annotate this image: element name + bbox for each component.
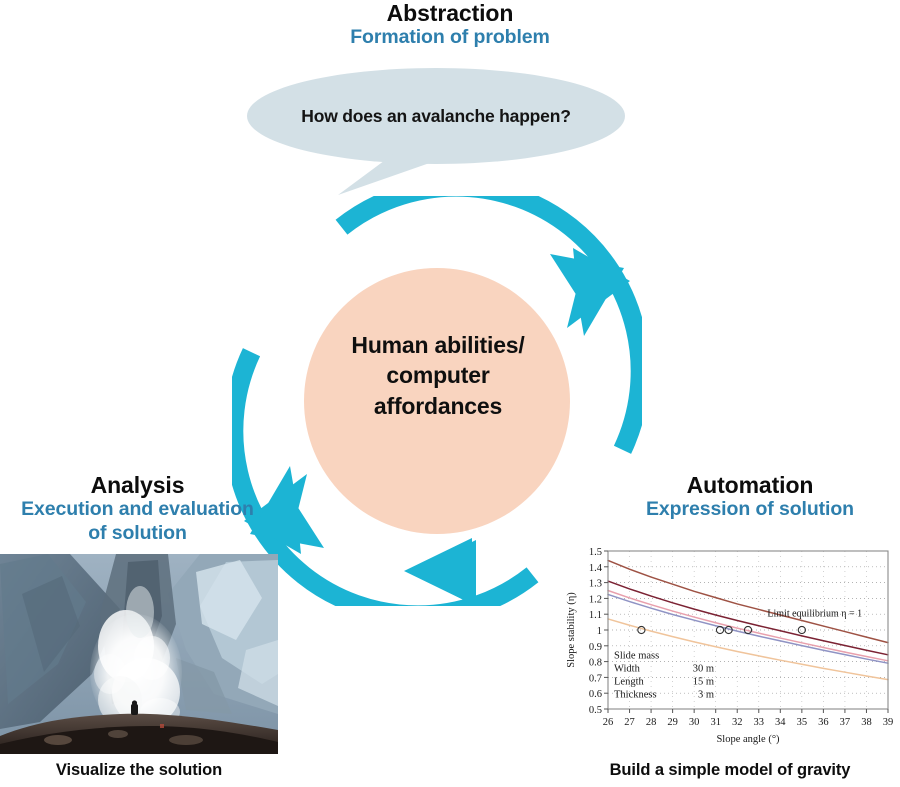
cycle-center-label: Human abilities/ computer affordances	[300, 330, 576, 421]
abstraction-title: Abstraction	[240, 0, 660, 26]
x-tick-label: 29	[667, 717, 678, 728]
x-tick-label: 35	[797, 717, 808, 728]
inset-table-row-label: Thickness	[614, 689, 657, 700]
x-tick-label: 34	[775, 717, 786, 728]
analysis-heading: Analysis Execution and evaluation of sol…	[0, 472, 275, 545]
y-tick-label: 1.5	[589, 547, 602, 558]
x-tick-label: 26	[603, 717, 614, 728]
x-tick-label: 38	[861, 717, 872, 728]
y-tick-label: 0.8	[589, 658, 602, 669]
cycle-center-line-2: computer	[300, 360, 576, 390]
avalanche-photo-graphic	[0, 554, 278, 754]
x-tick-label: 30	[689, 717, 700, 728]
arrow-head-bottom-left	[404, 538, 472, 604]
y-tick-label: 0.9	[589, 642, 602, 653]
automation-caption: Build a simple model of gravity	[560, 761, 900, 780]
diagram-canvas: Abstraction Formation of problem How doe…	[0, 0, 900, 787]
y-tick-label: 1.4	[589, 563, 603, 574]
abstraction-subtitle: Formation of problem	[240, 26, 660, 49]
automation-title: Automation	[600, 472, 900, 498]
x-tick-label: 27	[624, 717, 635, 728]
y-tick-label: 1.2	[589, 594, 602, 605]
x-tick-label: 36	[818, 717, 829, 728]
x-tick-label: 33	[754, 717, 765, 728]
inset-table-row-value: 30 m	[693, 663, 714, 674]
y-axis-label: Slope stability (η)	[566, 592, 577, 668]
avalanche-photo	[0, 554, 278, 754]
automation-heading: Automation Expression of solution	[600, 472, 900, 522]
cycle-center-line-1: Human abilities/	[300, 330, 576, 360]
x-tick-label: 28	[646, 717, 657, 728]
arrow-head-right	[550, 254, 624, 336]
analysis-subtitle-line-2: of solution	[0, 522, 275, 545]
cycle-center-line-3: affordances	[300, 391, 576, 421]
analysis-subtitle-line-1: Execution and evaluation	[0, 498, 275, 521]
speech-bubble: How does an avalanche happen?	[246, 66, 626, 196]
x-tick-label: 32	[732, 717, 743, 728]
x-tick-label: 39	[883, 717, 894, 728]
y-tick-label: 0.6	[589, 689, 602, 700]
inset-table-row-label: Length	[614, 676, 644, 687]
y-tick-label: 0.7	[589, 673, 602, 684]
chart-annotation: Limit equilibrium η = 1	[767, 609, 862, 620]
analysis-title: Analysis	[0, 472, 275, 498]
x-tick-label: 31	[710, 717, 721, 728]
inset-table-row-value: 3 m	[698, 689, 714, 700]
inset-table-row-value: 15 m	[693, 676, 714, 687]
inset-table-row-label: Width	[614, 663, 641, 674]
x-axis-label: Slope angle (°)	[716, 734, 780, 745]
y-tick-label: 0.5	[589, 705, 602, 716]
x-tick-label: 37	[840, 717, 851, 728]
inset-table-heading: Slide mass	[614, 650, 659, 661]
y-tick-label: 1.3	[589, 579, 602, 590]
analysis-caption: Visualize the solution	[0, 761, 278, 780]
slope-stability-chart: 0.50.60.70.80.911.11.21.31.41.5262728293…	[562, 543, 896, 748]
y-tick-label: 1	[597, 626, 602, 637]
slope-stability-chart-svg: 0.50.60.70.80.911.11.21.31.41.5262728293…	[562, 543, 896, 748]
automation-subtitle: Expression of solution	[600, 498, 900, 521]
abstraction-heading: Abstraction Formation of problem	[240, 0, 660, 50]
y-tick-label: 1.1	[589, 610, 602, 621]
speech-bubble-text: How does an avalanche happen?	[246, 66, 626, 166]
